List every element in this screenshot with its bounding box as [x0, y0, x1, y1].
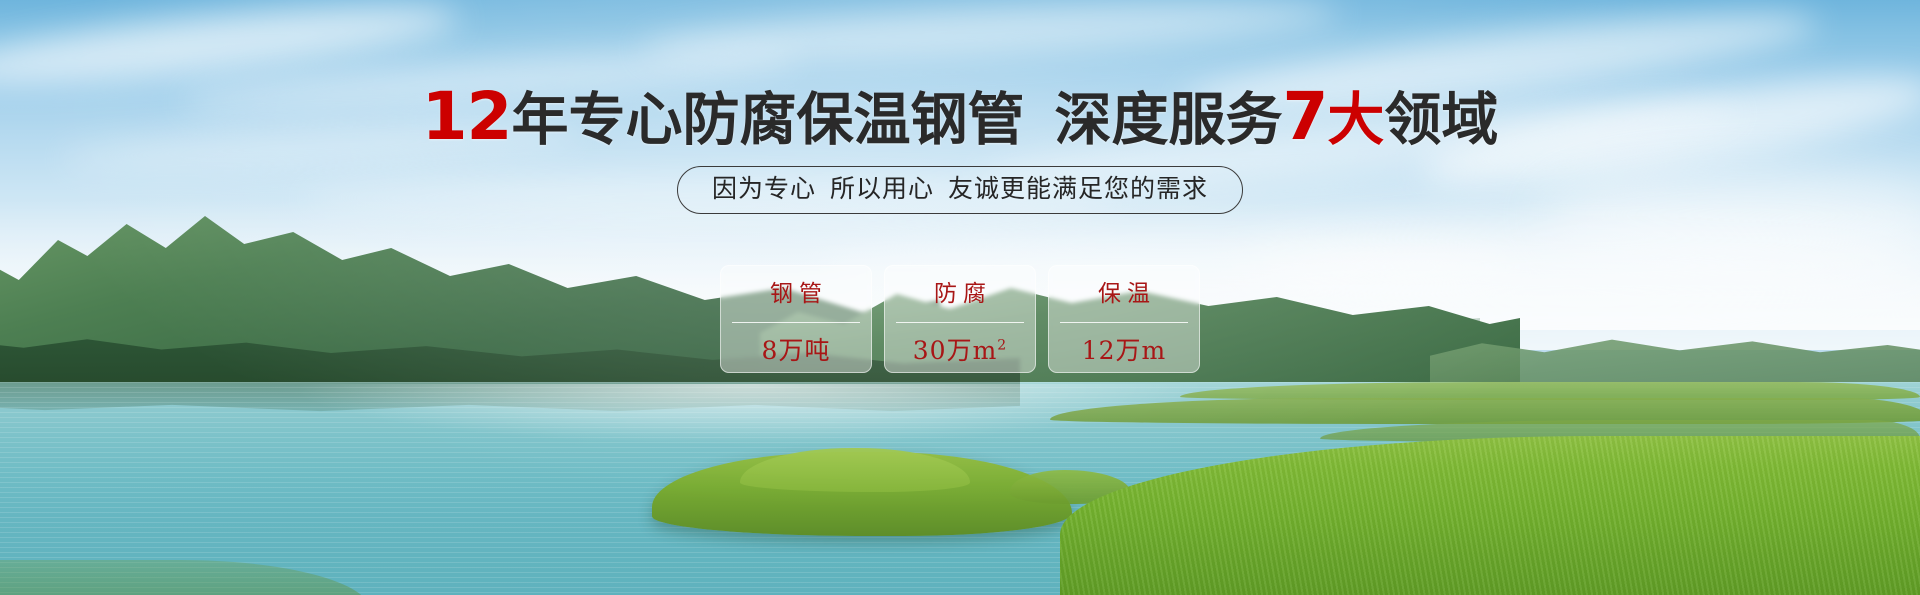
- stat-card-steel-pipe[interactable]: 钢管 8万吨: [720, 265, 872, 373]
- stat-value: 8万吨: [762, 338, 831, 363]
- banner-headline: 12年专心防腐保温钢管深度服务7大领域: [0, 82, 1920, 151]
- subtitle-part-2: 所以用心: [830, 174, 934, 203]
- stat-label: 钢管: [764, 283, 828, 306]
- headline-fields-suffix: 大: [1327, 87, 1384, 153]
- stat-divider: [732, 322, 860, 323]
- stat-label: 保温: [1092, 283, 1156, 306]
- stat-card-insulation[interactable]: 保温 12万m: [1048, 265, 1200, 373]
- stat-value: 30万m2: [913, 338, 1007, 363]
- headline-service-text: 深度服务: [1054, 87, 1282, 153]
- headline-fields-text: 领域: [1384, 87, 1498, 153]
- stat-value: 12万m: [1082, 338, 1167, 363]
- headline-years-number: 12: [422, 78, 512, 155]
- hero-banner: 12年专心防腐保温钢管深度服务7大领域 因为专心所以用心友诚更能满足您的需求 钢…: [0, 0, 1920, 595]
- headline-fields-number: 7: [1282, 78, 1327, 155]
- stat-card-group: 钢管 8万吨 防腐 30万m2 保温 12万m: [0, 265, 1920, 373]
- stat-label: 防腐: [928, 283, 992, 306]
- stat-value-main: 8万吨: [762, 336, 831, 365]
- headline-years-text: 年专心防腐保温钢管: [511, 87, 1024, 153]
- stat-divider: [1060, 322, 1188, 323]
- stat-value-superscript: 2: [997, 338, 1007, 354]
- subtitle-pill: 因为专心所以用心友诚更能满足您的需求: [677, 166, 1243, 214]
- banner-content: 12年专心防腐保温钢管深度服务7大领域 因为专心所以用心友诚更能满足您的需求 钢…: [0, 0, 1920, 595]
- subtitle-part-3: 友诚更能满足您的需求: [948, 174, 1208, 203]
- stat-value-main: 12万m: [1082, 336, 1167, 365]
- subtitle-part-1: 因为专心: [712, 174, 816, 203]
- stat-card-anticorrosion[interactable]: 防腐 30万m2: [884, 265, 1036, 373]
- stat-value-main: 30万m: [913, 336, 998, 365]
- subtitle-pill-wrap: 因为专心所以用心友诚更能满足您的需求: [0, 166, 1920, 214]
- stat-divider: [896, 322, 1024, 323]
